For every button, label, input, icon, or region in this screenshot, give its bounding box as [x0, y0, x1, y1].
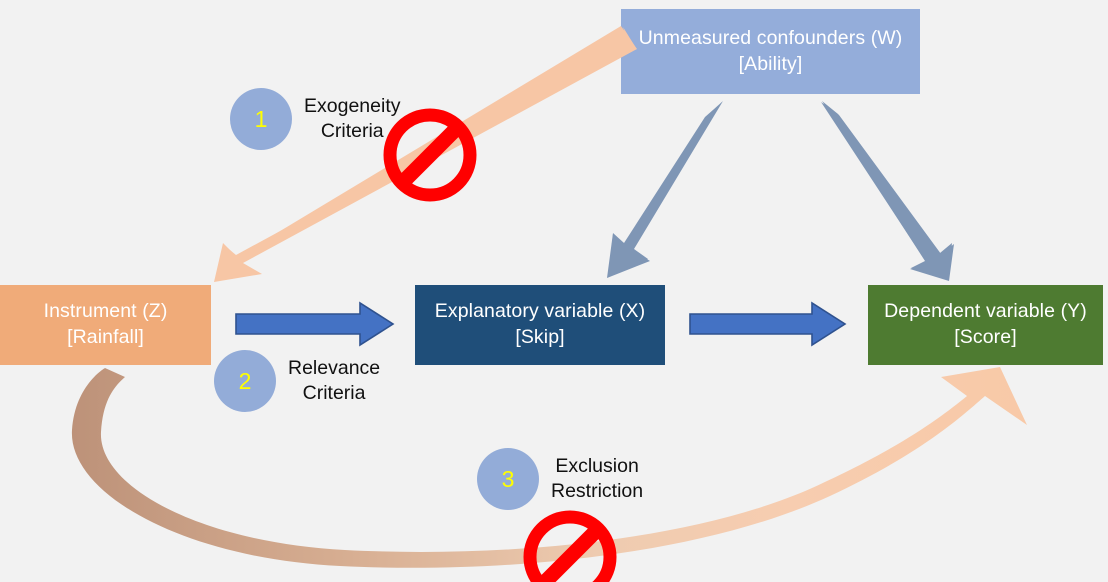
node-w-line2: [Ability]	[639, 52, 903, 78]
node-z-line2: [Rainfall]	[44, 325, 168, 351]
criteria-2-number-circle: 2	[214, 350, 276, 412]
criteria-3-number-circle: 3	[477, 448, 539, 510]
instrument-node[interactable]: Instrument (Z) [Rainfall]	[0, 285, 211, 365]
criteria-1-line1: Exogeneity	[304, 94, 400, 119]
x-to-y-arrow	[690, 303, 845, 345]
w-to-x-arrow	[607, 101, 723, 278]
criteria-2-label: Relevance Criteria	[288, 356, 380, 407]
criteria-2-line2: Criteria	[288, 381, 380, 406]
criteria-3-number: 3	[502, 466, 515, 493]
criteria-1-exogeneity[interactable]: 1 Exogeneity Criteria	[230, 88, 400, 150]
node-z-line1: Instrument (Z)	[44, 299, 168, 325]
criteria-3-exclusion[interactable]: 3 Exclusion Restriction	[477, 448, 643, 510]
criteria-2-line1: Relevance	[288, 356, 380, 381]
criteria-2-relevance[interactable]: 2 Relevance Criteria	[214, 350, 380, 412]
diagram-canvas: Unmeasured confounders (W) [Ability] Ins…	[0, 0, 1108, 582]
node-y-line2: [Score]	[884, 325, 1087, 351]
criteria-1-number: 1	[255, 106, 268, 133]
z-to-x-arrow	[236, 303, 393, 345]
w-to-y-arrow	[821, 101, 954, 281]
node-y-line1: Dependent variable (Y)	[884, 299, 1087, 325]
dependent-variable-node[interactable]: Dependent variable (Y) [Score]	[868, 285, 1103, 365]
no-entry-sign-exogeneity	[390, 115, 470, 195]
criteria-3-line1: Exclusion	[551, 454, 643, 479]
node-x-line2: [Skip]	[435, 325, 646, 351]
no-entry-sign-exclusion	[530, 517, 610, 582]
explanatory-variable-node[interactable]: Explanatory variable (X) [Skip]	[415, 285, 665, 365]
criteria-3-line2: Restriction	[551, 479, 643, 504]
criteria-1-label: Exogeneity Criteria	[304, 94, 400, 145]
w-to-z-arrow	[214, 26, 637, 282]
criteria-1-number-circle: 1	[230, 88, 292, 150]
node-x-line1: Explanatory variable (X)	[435, 299, 646, 325]
criteria-1-line2: Criteria	[304, 119, 400, 144]
criteria-3-label: Exclusion Restriction	[551, 454, 643, 505]
node-w-line1: Unmeasured confounders (W)	[639, 26, 903, 52]
criteria-2-number: 2	[239, 368, 252, 395]
unmeasured-confounders-node[interactable]: Unmeasured confounders (W) [Ability]	[621, 9, 920, 94]
